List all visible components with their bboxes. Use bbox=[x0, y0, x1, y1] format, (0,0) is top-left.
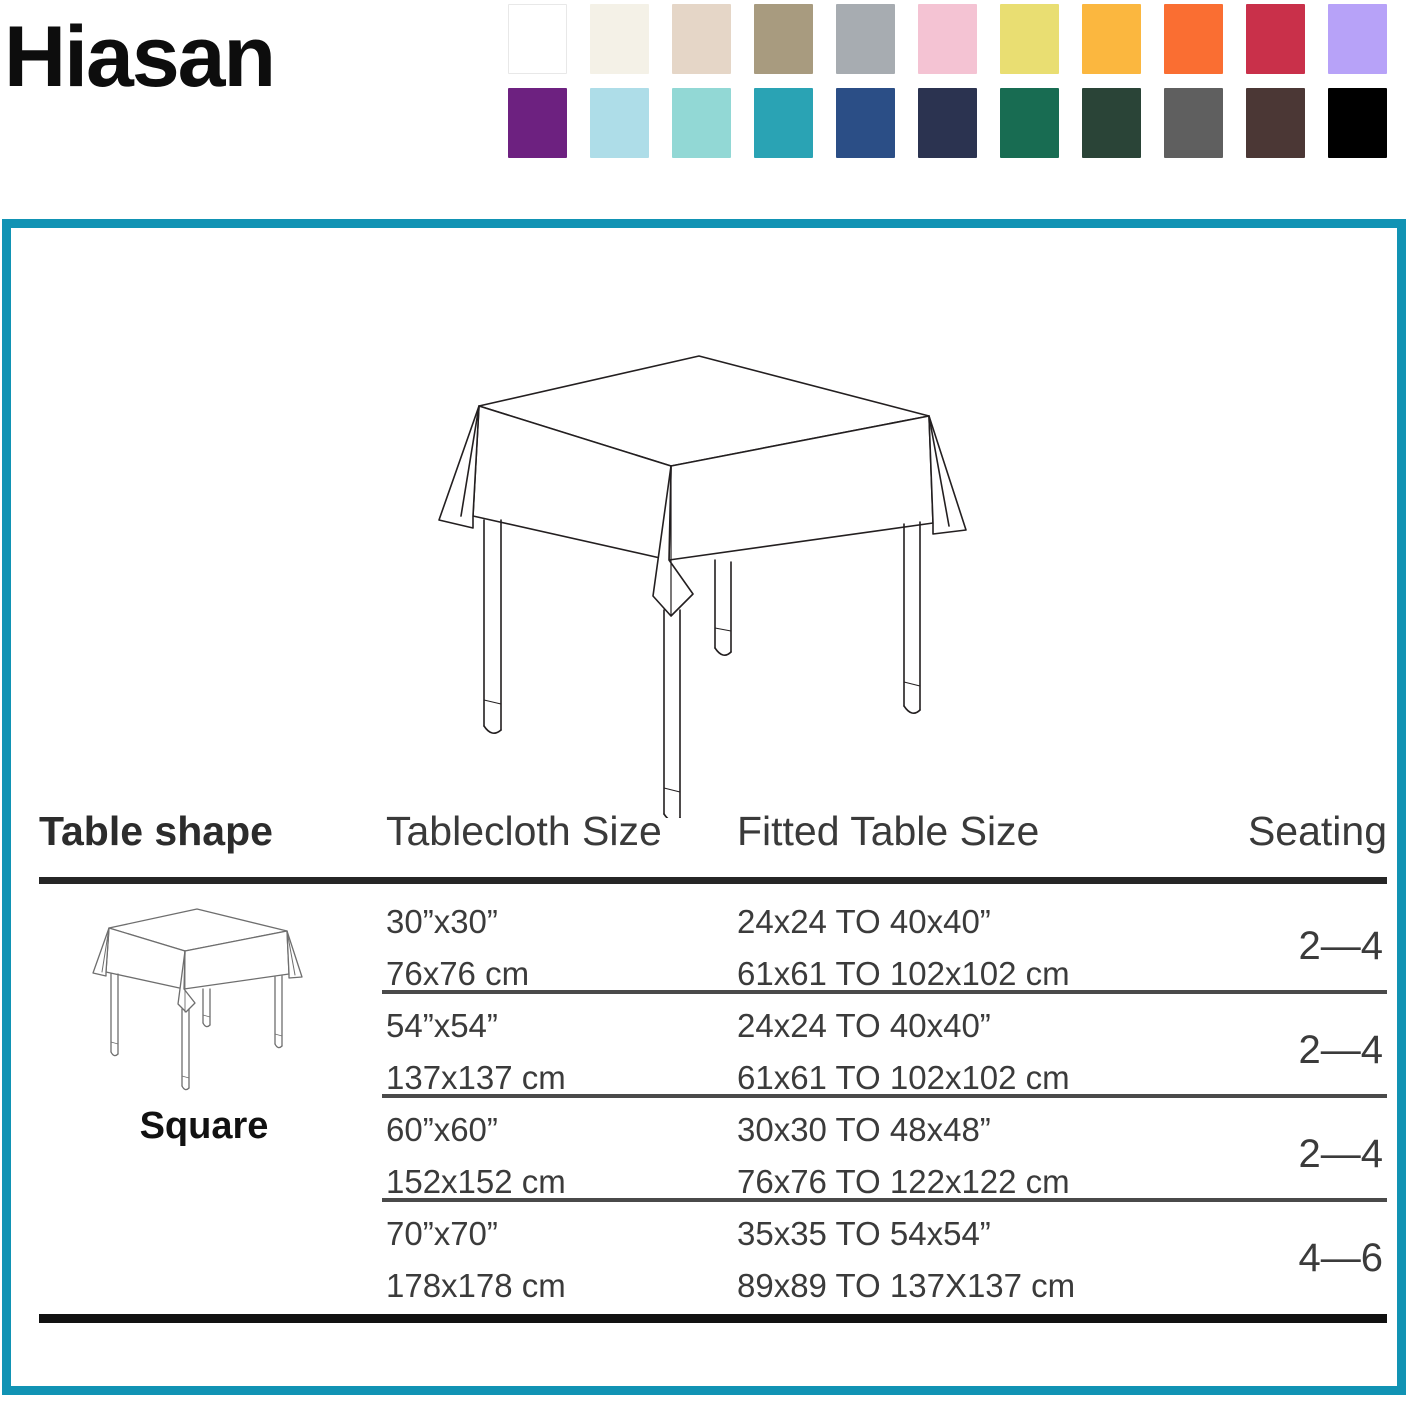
cell-seating: 2—4 bbox=[1299, 920, 1384, 972]
color-swatch-purple[interactable] bbox=[508, 88, 567, 158]
color-swatch-light-blue[interactable] bbox=[590, 88, 649, 158]
color-swatch-beige[interactable] bbox=[672, 4, 731, 74]
table-row: 60”x60”152x152 cm30x30 TO 48x48”76x76 TO… bbox=[31, 1098, 1395, 1202]
color-swatch-red[interactable] bbox=[1246, 4, 1305, 74]
color-swatch-row-2 bbox=[508, 88, 1408, 158]
color-swatch-black[interactable] bbox=[1328, 88, 1387, 158]
table-body: 30”x30”76x76 cm24x24 TO 40x40”61x61 TO 1… bbox=[31, 890, 1395, 1315]
table-row: 54”x54”137x137 cm24x24 TO 40x40”61x61 TO… bbox=[31, 994, 1395, 1098]
color-swatch-forest-green[interactable] bbox=[1082, 88, 1141, 158]
color-swatch-lavender[interactable] bbox=[1328, 4, 1387, 74]
cell-tablecloth-size: 60”x60”152x152 cm bbox=[386, 1104, 736, 1208]
square-table-with-tablecloth-illustration bbox=[421, 348, 1001, 818]
color-swatch-pink[interactable] bbox=[918, 4, 977, 74]
cell-fitted-table-size: 24x24 TO 40x40”61x61 TO 102x102 cm bbox=[737, 1000, 1197, 1104]
table-row: 30”x30”76x76 cm24x24 TO 40x40”61x61 TO 1… bbox=[31, 890, 1395, 994]
fitted-size-inches: 35x35 TO 54x54” bbox=[737, 1208, 1197, 1260]
table-header-row: Table shape Tablecloth Size Fitted Table… bbox=[31, 811, 1395, 879]
color-swatch-taupe[interactable] bbox=[754, 4, 813, 74]
color-swatch-row-1 bbox=[508, 4, 1408, 74]
cell-fitted-table-size: 24x24 TO 40x40”61x61 TO 102x102 cm bbox=[737, 896, 1197, 1000]
color-swatch-panel bbox=[508, 4, 1408, 172]
color-swatch-ivory[interactable] bbox=[590, 4, 649, 74]
header-banner: Hiasan bbox=[0, 0, 1416, 200]
size-chart-card: Table shape Tablecloth Size Fitted Table… bbox=[2, 219, 1406, 1395]
color-swatch-denim-blue[interactable] bbox=[836, 88, 895, 158]
tablecloth-size-cm: 178x178 cm bbox=[386, 1260, 736, 1312]
fitted-size-inches: 24x24 TO 40x40” bbox=[737, 1000, 1197, 1052]
cell-tablecloth-size: 54”x54”137x137 cm bbox=[386, 1000, 736, 1104]
cell-tablecloth-size: 70”x70”178x178 cm bbox=[386, 1208, 736, 1312]
cell-tablecloth-size: 30”x30”76x76 cm bbox=[386, 896, 736, 1000]
color-swatch-dark-gray[interactable] bbox=[1164, 88, 1223, 158]
color-swatch-orange[interactable] bbox=[1164, 4, 1223, 74]
color-swatch-white[interactable] bbox=[508, 4, 567, 74]
fitted-size-cm: 89x89 TO 137X137 cm bbox=[737, 1260, 1197, 1312]
cell-seating: 2—4 bbox=[1299, 1128, 1384, 1180]
brand-logo: Hiasan bbox=[4, 14, 274, 100]
column-header-tablecloth-size: Tablecloth Size bbox=[386, 811, 662, 852]
color-swatch-teal[interactable] bbox=[754, 88, 813, 158]
tablecloth-size-inches: 60”x60” bbox=[386, 1104, 736, 1156]
color-swatch-yellow[interactable] bbox=[1000, 4, 1059, 74]
tablecloth-size-inches: 30”x30” bbox=[386, 896, 736, 948]
fitted-size-inches: 30x30 TO 48x48” bbox=[737, 1104, 1197, 1156]
column-header-table-shape: Table shape bbox=[39, 811, 273, 852]
cell-fitted-table-size: 30x30 TO 48x48”76x76 TO 122x122 cm bbox=[737, 1104, 1197, 1208]
cell-seating: 4—6 bbox=[1299, 1232, 1384, 1284]
tablecloth-size-inches: 70”x70” bbox=[386, 1208, 736, 1260]
tablecloth-size-inches: 54”x54” bbox=[386, 1000, 736, 1052]
size-table: Table shape Tablecloth Size Fitted Table… bbox=[31, 811, 1395, 879]
table-row: 70”x70”178x178 cm35x35 TO 54x54”89x89 TO… bbox=[31, 1202, 1395, 1315]
table-bottom-divider bbox=[39, 1314, 1387, 1323]
column-header-seating: Seating bbox=[1248, 811, 1387, 852]
header-divider bbox=[39, 877, 1387, 884]
color-swatch-gray[interactable] bbox=[836, 4, 895, 74]
column-header-fitted-table-size: Fitted Table Size bbox=[737, 811, 1039, 852]
color-swatch-aqua[interactable] bbox=[672, 88, 731, 158]
cell-fitted-table-size: 35x35 TO 54x54”89x89 TO 137X137 cm bbox=[737, 1208, 1197, 1312]
color-swatch-navy[interactable] bbox=[918, 88, 977, 158]
cell-seating: 2—4 bbox=[1299, 1024, 1384, 1076]
color-swatch-emerald[interactable] bbox=[1000, 88, 1059, 158]
color-swatch-dark-brown[interactable] bbox=[1246, 88, 1305, 158]
color-swatch-amber[interactable] bbox=[1082, 4, 1141, 74]
fitted-size-inches: 24x24 TO 40x40” bbox=[737, 896, 1197, 948]
